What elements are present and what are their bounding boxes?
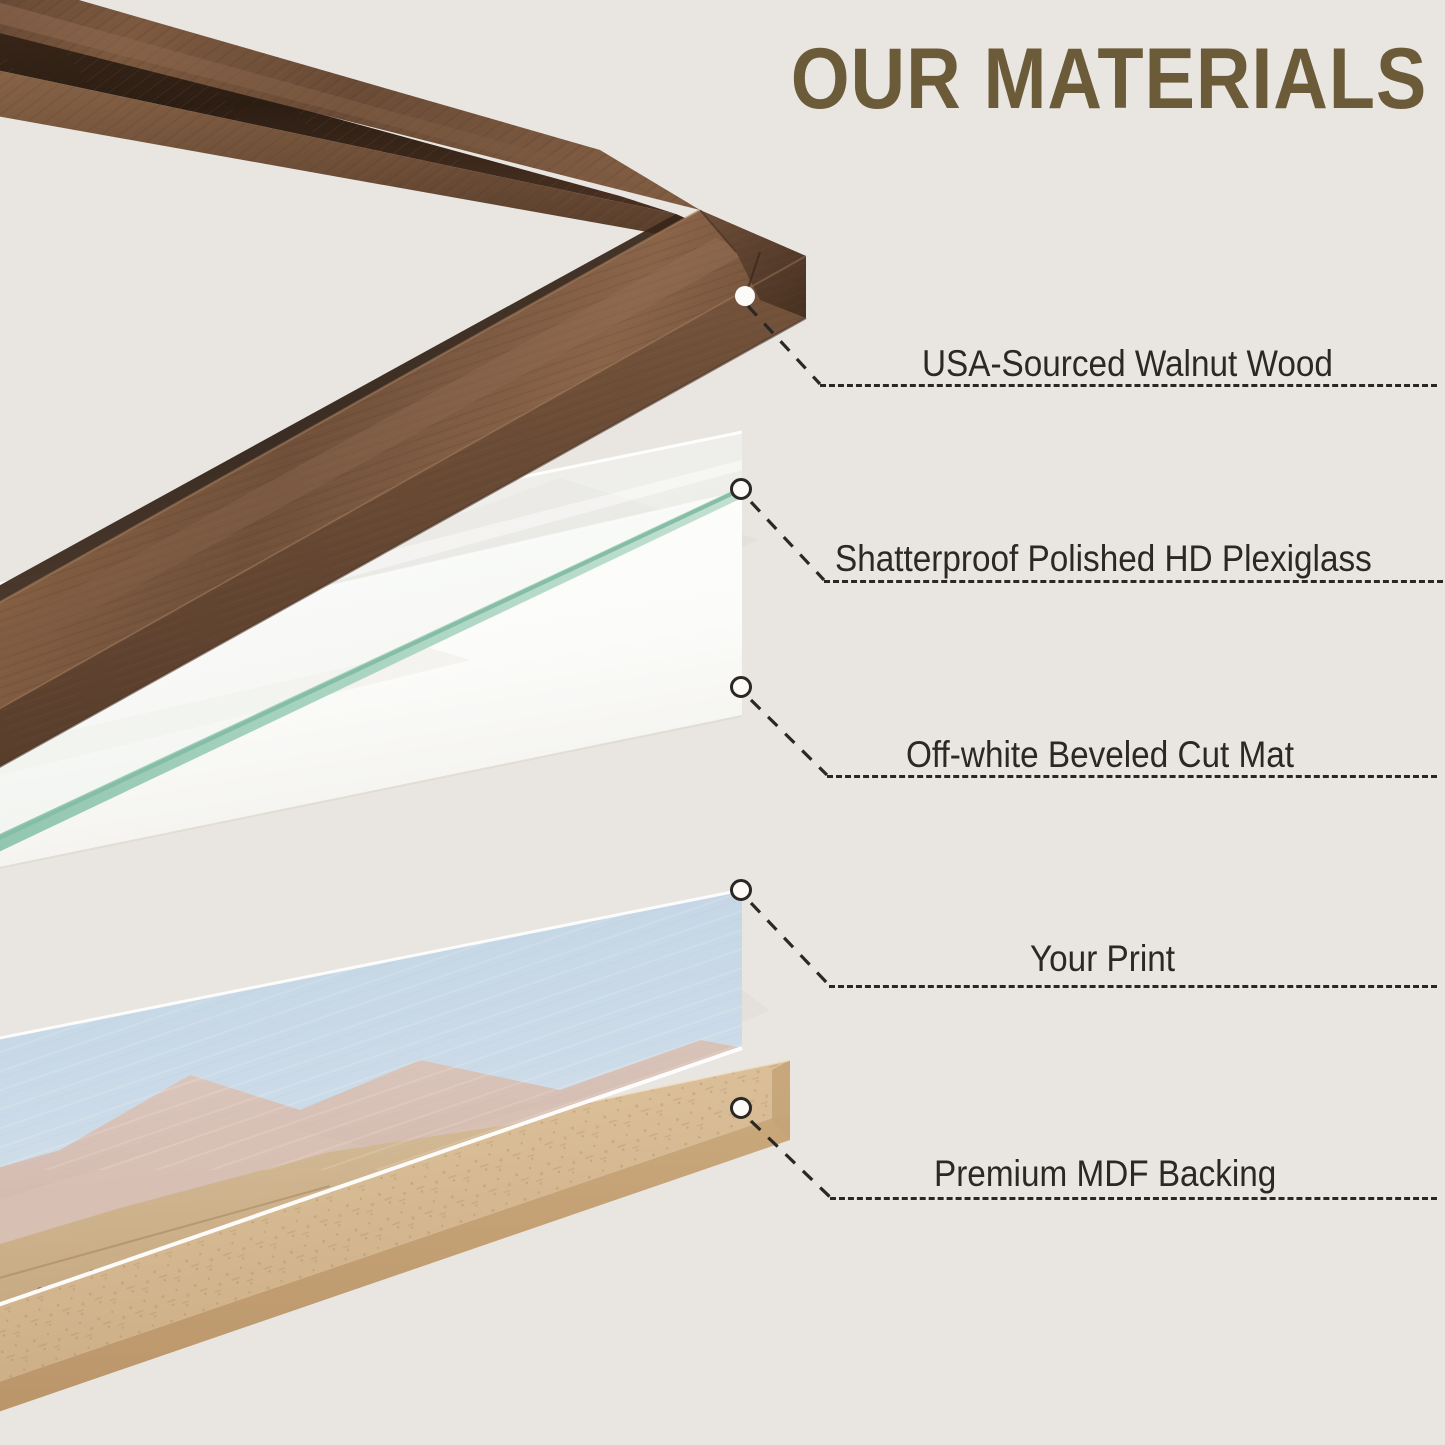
callout-label-walnut-wood: USA-Sourced Walnut Wood [922, 345, 1333, 382]
callout-line-walnut-wood [820, 384, 1437, 387]
marker-dot-print [730, 879, 752, 901]
marker-dot-mat [730, 676, 752, 698]
marker-dot-plexiglass [730, 478, 752, 500]
callout-label-print: Your Print [1030, 940, 1175, 977]
page-title: OUR MATERIALS [791, 36, 1427, 122]
callout-label-plexiglass: Shatterproof Polished HD Plexiglass [835, 540, 1372, 577]
callout-line-print [829, 985, 1437, 988]
callout-label-mat: Off-white Beveled Cut Mat [906, 736, 1294, 773]
callout-label-mdf-backing: Premium MDF Backing [934, 1155, 1276, 1192]
marker-dot-walnut-wood [735, 286, 755, 306]
exploded-frame-illustration [0, 0, 1445, 1445]
leader-line-print [751, 903, 829, 985]
leader-line-plexiglass [751, 502, 824, 580]
leader-line-mat [751, 700, 827, 775]
callout-line-mat [827, 775, 1437, 778]
marker-dot-mdf-backing [730, 1097, 752, 1119]
callout-line-mdf-backing [830, 1197, 1437, 1200]
callout-line-plexiglass [824, 580, 1443, 583]
infographic-canvas: OUR MATERIALS USA-Sourced Walnut Wood Sh… [0, 0, 1445, 1445]
